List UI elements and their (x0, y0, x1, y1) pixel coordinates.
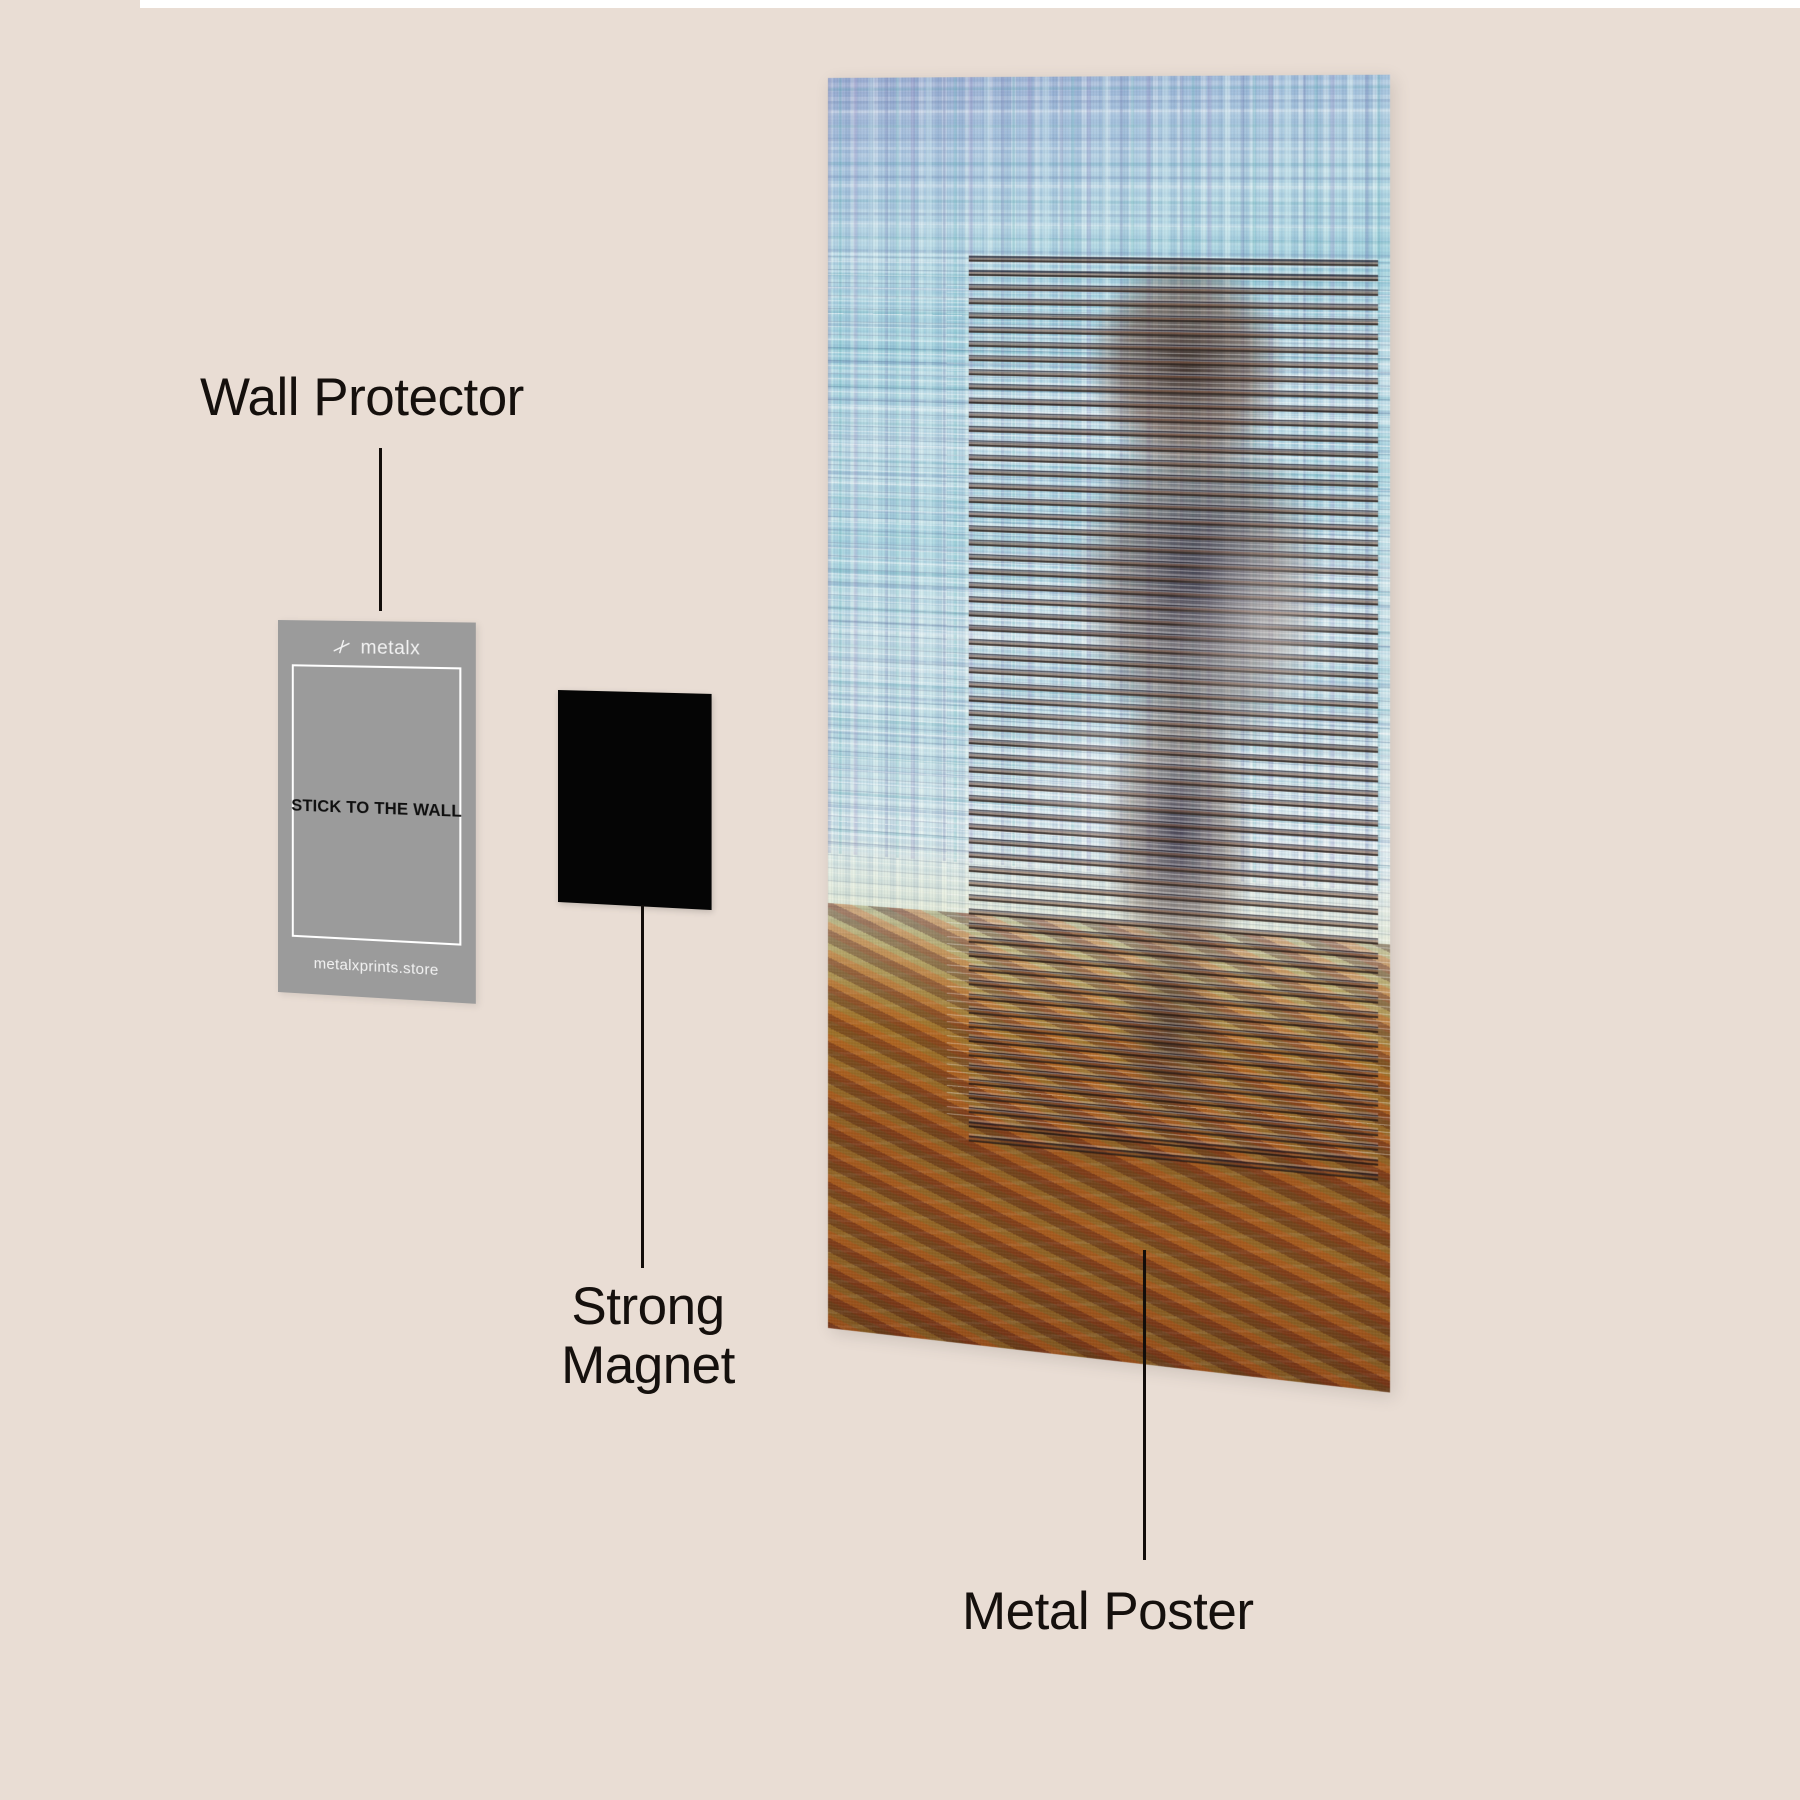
label-wall-protector: Wall Protector (200, 368, 524, 427)
wall-protector-url: metalxprints.store (278, 953, 476, 981)
top-strip-left-gap (0, 0, 140, 4)
wall-protector-brand-logo: metalx (278, 634, 476, 664)
strong-magnet (558, 690, 712, 910)
top-white-strip (140, 0, 1800, 8)
metalx-cross-mark-icon (332, 637, 354, 660)
poster-figure-highlight-layer (947, 280, 1390, 1156)
leader-line-metal-poster (1143, 1250, 1146, 1560)
leader-line-strong-magnet (641, 905, 644, 1268)
product-infographic: metalx STICK TO THE WALL metalxprints.st… (0, 0, 1800, 1800)
metal-poster (828, 75, 1390, 1393)
label-metal-poster: Metal Poster (962, 1582, 1254, 1641)
label-strong-magnet: Strong Magnet (548, 1277, 748, 1396)
leader-line-wall-protector (379, 448, 382, 611)
poster-artwork (828, 75, 1390, 1393)
wall-protector-card: metalx STICK TO THE WALL metalxprints.st… (278, 620, 476, 1004)
wall-protector-brand-name: metalx (361, 637, 421, 660)
